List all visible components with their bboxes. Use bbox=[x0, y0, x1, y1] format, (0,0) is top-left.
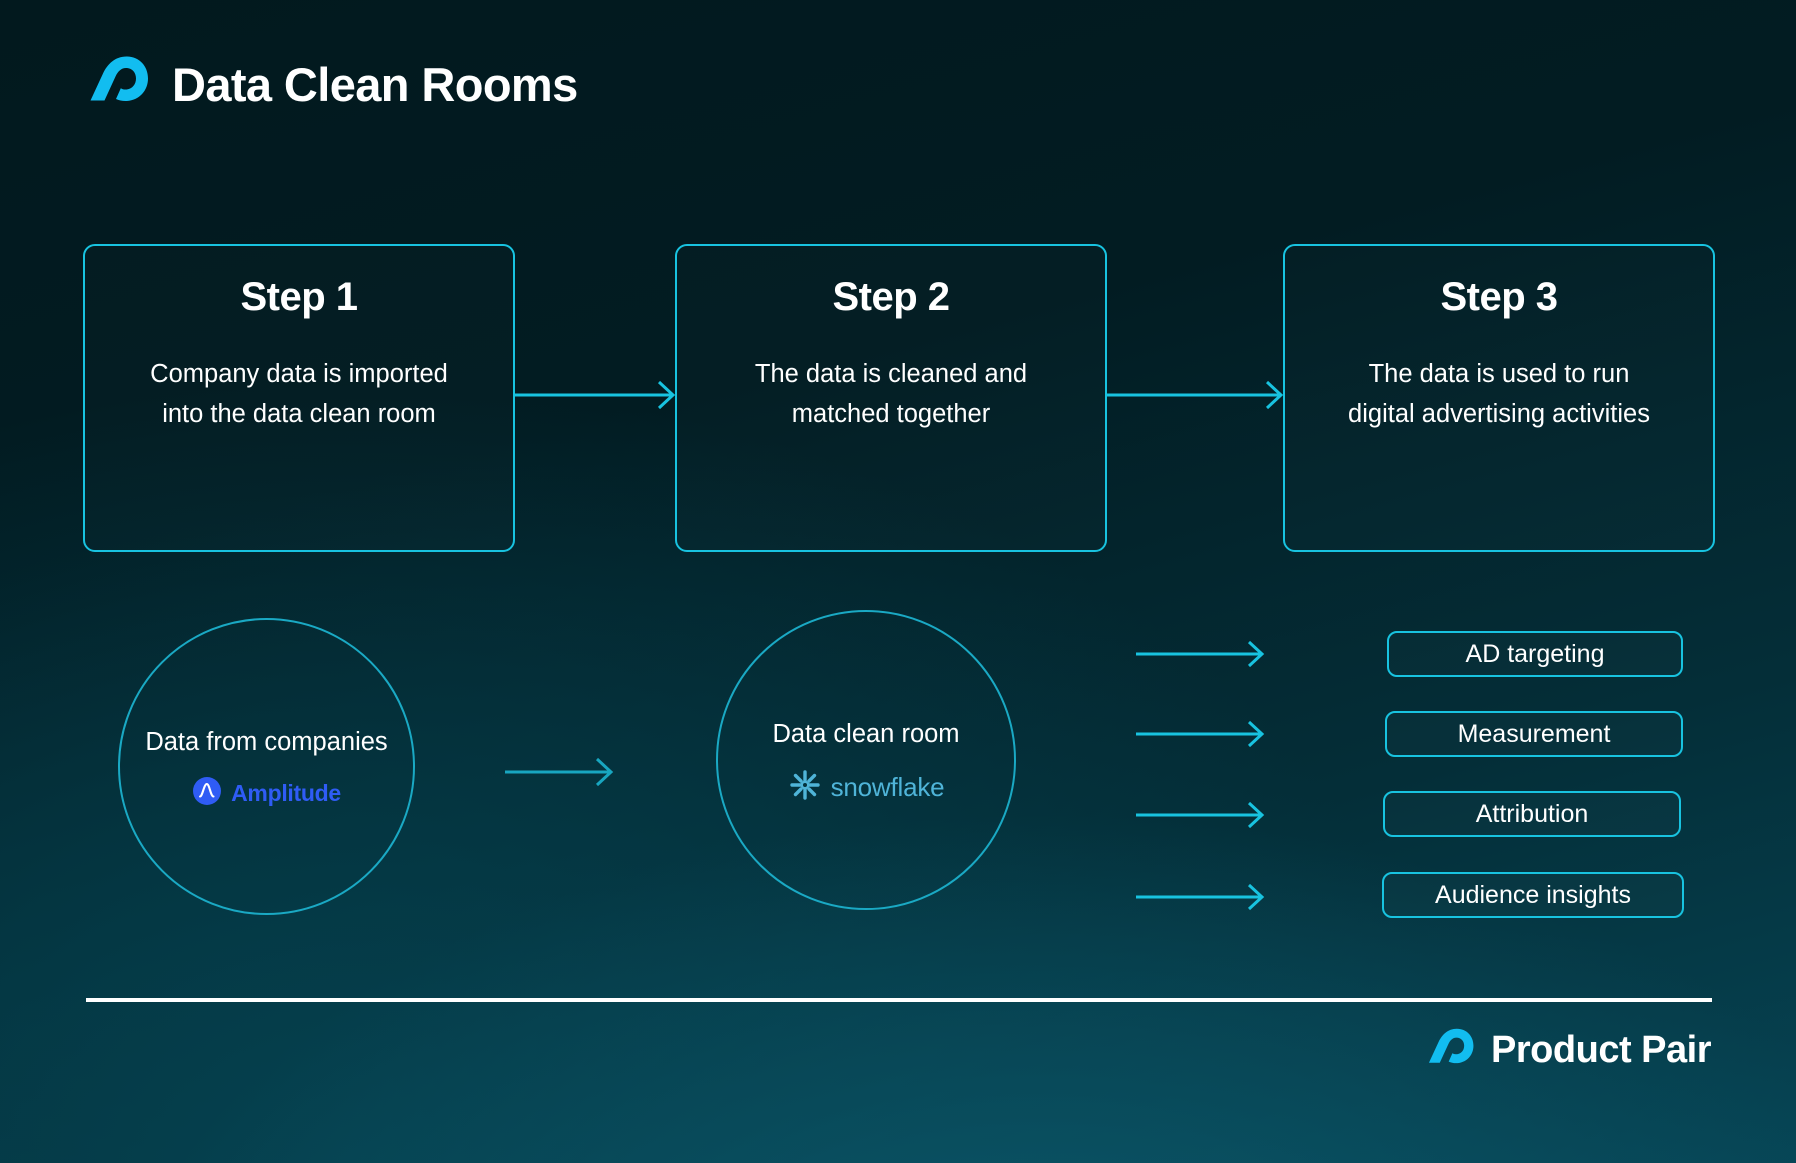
snowflake-wordmark: snowflake bbox=[831, 772, 945, 803]
step-box-1: Step 1 Company data is imported into the… bbox=[83, 244, 515, 552]
step-box-3: Step 3 The data is used to run digital a… bbox=[1283, 244, 1715, 552]
arrow-right-icon-output-1 bbox=[1136, 720, 1266, 753]
arrow-right-icon-output-0 bbox=[1136, 640, 1266, 673]
product-pair-p-logo-icon bbox=[88, 53, 150, 115]
output-pill-ad-targeting: AD targeting bbox=[1387, 631, 1683, 677]
output-pill-label: Measurement bbox=[1458, 720, 1611, 749]
footer-brand-name: Product Pair bbox=[1491, 1029, 1711, 1072]
output-pill-measurement: Measurement bbox=[1385, 711, 1683, 757]
step-3-description: The data is used to run digital advertis… bbox=[1334, 354, 1664, 434]
arrow-right-icon-step2-step3 bbox=[1107, 380, 1285, 415]
arrow-right-icon-output-2 bbox=[1136, 801, 1266, 834]
arrow-right-icon-step1-step2 bbox=[515, 380, 677, 415]
footer-divider bbox=[86, 998, 1712, 1002]
step-2-title: Step 2 bbox=[832, 275, 949, 320]
circle-cleanroom-label: Data clean room bbox=[772, 714, 959, 754]
arrow-right-icon-companies-cleanroom bbox=[505, 757, 615, 792]
step-1-title: Step 1 bbox=[240, 275, 357, 320]
step-1-description: Company data is imported into the data c… bbox=[134, 354, 464, 434]
output-pill-attribution: Attribution bbox=[1383, 791, 1681, 837]
header: Data Clean Rooms bbox=[88, 53, 578, 115]
infographic-canvas: Data Clean Rooms Step 1 Company data is … bbox=[0, 0, 1796, 1163]
product-pair-p-logo-icon bbox=[1427, 1026, 1475, 1074]
circle-companies-label: Data from companies bbox=[145, 722, 387, 762]
output-pill-audience-insights: Audience insights bbox=[1382, 872, 1684, 918]
output-pill-label: Attribution bbox=[1476, 800, 1589, 829]
step-3-title: Step 3 bbox=[1440, 275, 1557, 320]
footer-brand: Product Pair bbox=[1427, 1026, 1711, 1074]
circle-data-from-companies: Data from companies Amplitude bbox=[118, 618, 415, 915]
output-pill-label: AD targeting bbox=[1466, 640, 1605, 669]
amplitude-wordmark: Amplitude bbox=[231, 780, 341, 807]
page-title: Data Clean Rooms bbox=[172, 57, 578, 112]
amplitude-logo-icon bbox=[192, 776, 222, 811]
snowflake-logo-icon bbox=[788, 768, 822, 807]
amplitude-logo: Amplitude bbox=[192, 776, 341, 811]
step-2-description: The data is cleaned and matched together bbox=[726, 354, 1056, 434]
output-pill-label: Audience insights bbox=[1435, 881, 1631, 910]
snowflake-logo: snowflake bbox=[788, 768, 945, 807]
circle-data-clean-room: Data clean room snow bbox=[716, 610, 1016, 910]
arrow-right-icon-output-3 bbox=[1136, 883, 1266, 916]
step-box-2: Step 2 The data is cleaned and matched t… bbox=[675, 244, 1107, 552]
